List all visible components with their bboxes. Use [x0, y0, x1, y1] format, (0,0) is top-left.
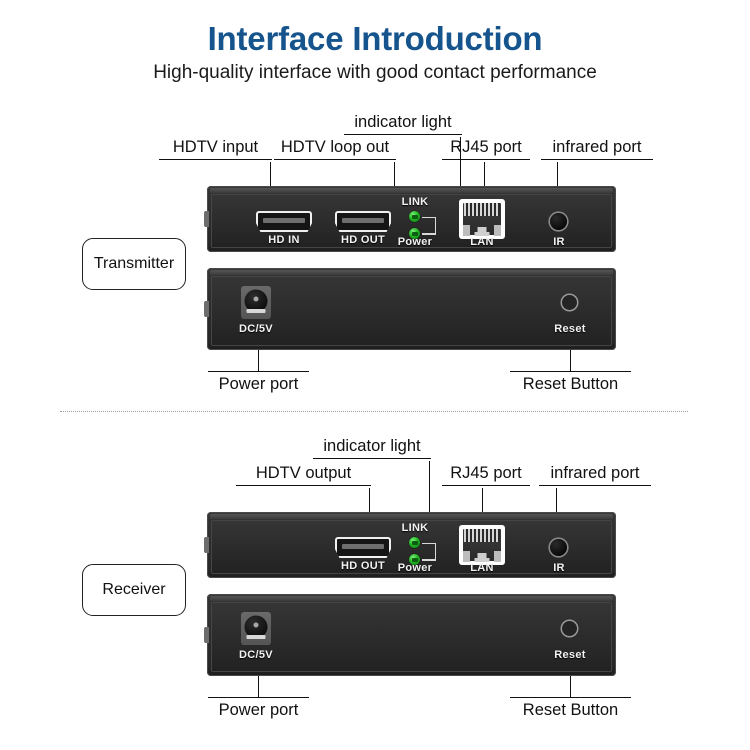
leader-hdtv-input — [270, 162, 271, 188]
led-bracket — [422, 543, 436, 560]
reset-label: Reset — [544, 323, 596, 335]
panel-face — [211, 602, 612, 672]
ir-port[interactable] — [550, 539, 567, 556]
reset-label: Reset — [544, 649, 596, 661]
dc-power-port[interactable] — [241, 612, 271, 645]
dc-power-label: DC/5V — [232, 323, 280, 335]
rj45-pins — [464, 203, 500, 216]
role-label: Transmitter — [94, 255, 174, 273]
rj45-pins — [464, 529, 500, 542]
callout-rj45-port: RJ45 port — [442, 464, 530, 486]
hdmi-out-label: HD OUT — [331, 560, 395, 572]
hdmi-out-label: HD OUT — [331, 234, 395, 246]
ir-label: IR — [543, 562, 575, 574]
link-led-label: LINK — [396, 522, 434, 534]
transmitter-front-panel: HD IN HD OUT LINK Power LAN IR — [207, 186, 616, 252]
mount-tab — [204, 537, 209, 553]
leader-infrared-port — [556, 488, 557, 514]
dc-jack-pin — [254, 623, 259, 628]
receiver-rear-panel: DC/5V Reset — [207, 594, 616, 676]
ir-port[interactable] — [550, 213, 567, 230]
hdmi-in-label: HD IN — [256, 234, 312, 246]
leader-hdtv-loop-out — [394, 162, 395, 188]
leader-rj45-port — [482, 488, 483, 514]
rj45-side-left — [463, 225, 470, 236]
callout-hdtv-loop-out: HDTV loop out — [274, 138, 396, 160]
panel-bevel — [210, 596, 613, 601]
dc-power-port[interactable] — [241, 286, 271, 319]
hdmi-out-port[interactable] — [335, 211, 391, 232]
callout-indicator-light: indicator light — [344, 113, 462, 135]
ir-label: IR — [543, 236, 575, 248]
role-label: Receiver — [102, 581, 165, 599]
callout-infrared-port: infrared port — [541, 138, 653, 160]
led-stem-power — [422, 560, 436, 561]
interface-introduction-diagram: Interface Introduction High-quality inte… — [0, 0, 750, 750]
lan-port[interactable] — [459, 525, 505, 565]
callout-reset-button: Reset Button — [510, 697, 631, 720]
callout-indicator-light: indicator light — [313, 437, 431, 459]
power-led-label: Power — [393, 236, 437, 248]
lan-label: LAN — [455, 562, 509, 574]
power-led-label: Power — [393, 562, 437, 574]
rj45-side-right — [494, 551, 501, 562]
callout-power-port: Power port — [208, 371, 309, 394]
mount-tab — [204, 301, 209, 317]
mount-tab — [204, 211, 209, 227]
mount-tab — [204, 627, 209, 643]
lan-port[interactable] — [459, 199, 505, 239]
callout-infrared-port: infrared port — [539, 464, 651, 486]
page-subtitle: High-quality interface with good contact… — [0, 62, 750, 84]
hdmi-in-port[interactable] — [256, 211, 312, 232]
reset-button[interactable] — [562, 295, 577, 310]
lan-label: LAN — [455, 236, 509, 248]
rj45-side-left — [463, 551, 470, 562]
leader-power-port — [258, 350, 259, 372]
reset-button[interactable] — [562, 621, 577, 636]
leader-rj45-port — [484, 162, 485, 188]
role-box-transmitter: Transmitter — [82, 238, 186, 290]
leader-reset-button — [570, 350, 571, 372]
panel-bevel — [210, 270, 613, 275]
link-led-label: LINK — [396, 196, 434, 208]
leader-hdtv-output — [369, 488, 370, 514]
callout-rj45-port: RJ45 port — [442, 138, 530, 160]
callout-hdtv-output: HDTV output — [236, 464, 371, 486]
section-divider — [60, 411, 688, 412]
link-led — [409, 537, 420, 548]
dc-jack-slot — [247, 309, 266, 313]
dc-jack-slot — [247, 635, 266, 639]
role-box-receiver: Receiver — [82, 564, 186, 616]
led-bracket — [422, 217, 436, 234]
page-title: Interface Introduction — [0, 20, 750, 58]
callout-reset-button: Reset Button — [510, 371, 631, 394]
panel-bevel — [210, 514, 613, 519]
panel-bevel — [210, 188, 613, 193]
hdmi-out-port[interactable] — [335, 537, 391, 558]
callout-power-port: Power port — [208, 697, 309, 720]
leader-power-port — [258, 676, 259, 698]
link-led — [409, 211, 420, 222]
leader-reset-button — [570, 676, 571, 698]
callout-hdtv-input: HDTV input — [159, 138, 272, 160]
dc-power-label: DC/5V — [232, 649, 280, 661]
panel-face — [211, 276, 612, 346]
dc-jack-pin — [254, 297, 259, 302]
led-stem-power — [422, 234, 436, 235]
leader-infrared-port — [557, 162, 558, 188]
rj45-side-right — [494, 225, 501, 236]
transmitter-rear-panel: DC/5V Reset — [207, 268, 616, 350]
receiver-front-panel: HD OUT LINK Power LAN IR — [207, 512, 616, 578]
leader-indicator-light — [429, 461, 430, 512]
